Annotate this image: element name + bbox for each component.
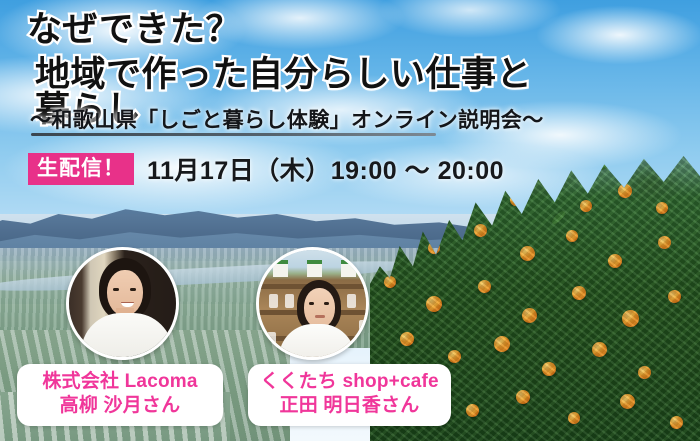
speaker-2-name: 正田 明日香さん (260, 394, 439, 417)
divider-rule (31, 133, 436, 136)
torso-shape (81, 313, 173, 360)
speaker-2-portrait (259, 250, 366, 357)
event-datetime: 11月17日（木）19:00 〜 20:00 (147, 151, 504, 187)
torso-shape (279, 324, 355, 360)
shop-sign-1 (273, 260, 288, 277)
schedule-bar: 生配信！ 11月17日（木）19:00 〜 20:00 (28, 151, 504, 187)
speaker-1-organization: 株式会社 Lacoma (29, 371, 211, 392)
eye-left (113, 288, 119, 291)
event-poster: なぜできた？ 地域で作った自分らしい仕事と暮らし 〜和歌山県「しごと暮らし体験」… (0, 0, 700, 441)
shop-jar-5 (267, 332, 276, 346)
shop-jar-1 (269, 294, 278, 308)
live-stream-badge: 生配信！ (28, 153, 134, 185)
speaker-1-name: 高柳 沙月さん (29, 394, 211, 417)
shop-jar-2 (285, 294, 294, 308)
shop-sign-3 (341, 260, 356, 277)
shop-sign-2 (307, 260, 322, 277)
speaker-card-1: 株式会社 Lacoma 高柳 沙月さん (17, 364, 223, 426)
speaker-photo-1 (66, 247, 179, 360)
shop-jar-3 (347, 294, 356, 308)
speaker-photo-2 (256, 247, 369, 360)
headline-line-1: なぜできた？ (27, 12, 547, 48)
speaker-2-organization: くくたち shop+cafe (260, 371, 439, 392)
eye-left (309, 302, 314, 305)
subtitle: 〜和歌山県「しごと暮らし体験」オンライン説明会〜 (30, 104, 544, 134)
speaker-card-2: くくたち shop+cafe 正田 明日香さん (248, 364, 451, 426)
face-shape (304, 288, 335, 328)
speaker-1-portrait (69, 250, 176, 357)
eye-right (130, 288, 136, 291)
mouth-shape (315, 315, 325, 318)
eye-right (324, 302, 329, 305)
